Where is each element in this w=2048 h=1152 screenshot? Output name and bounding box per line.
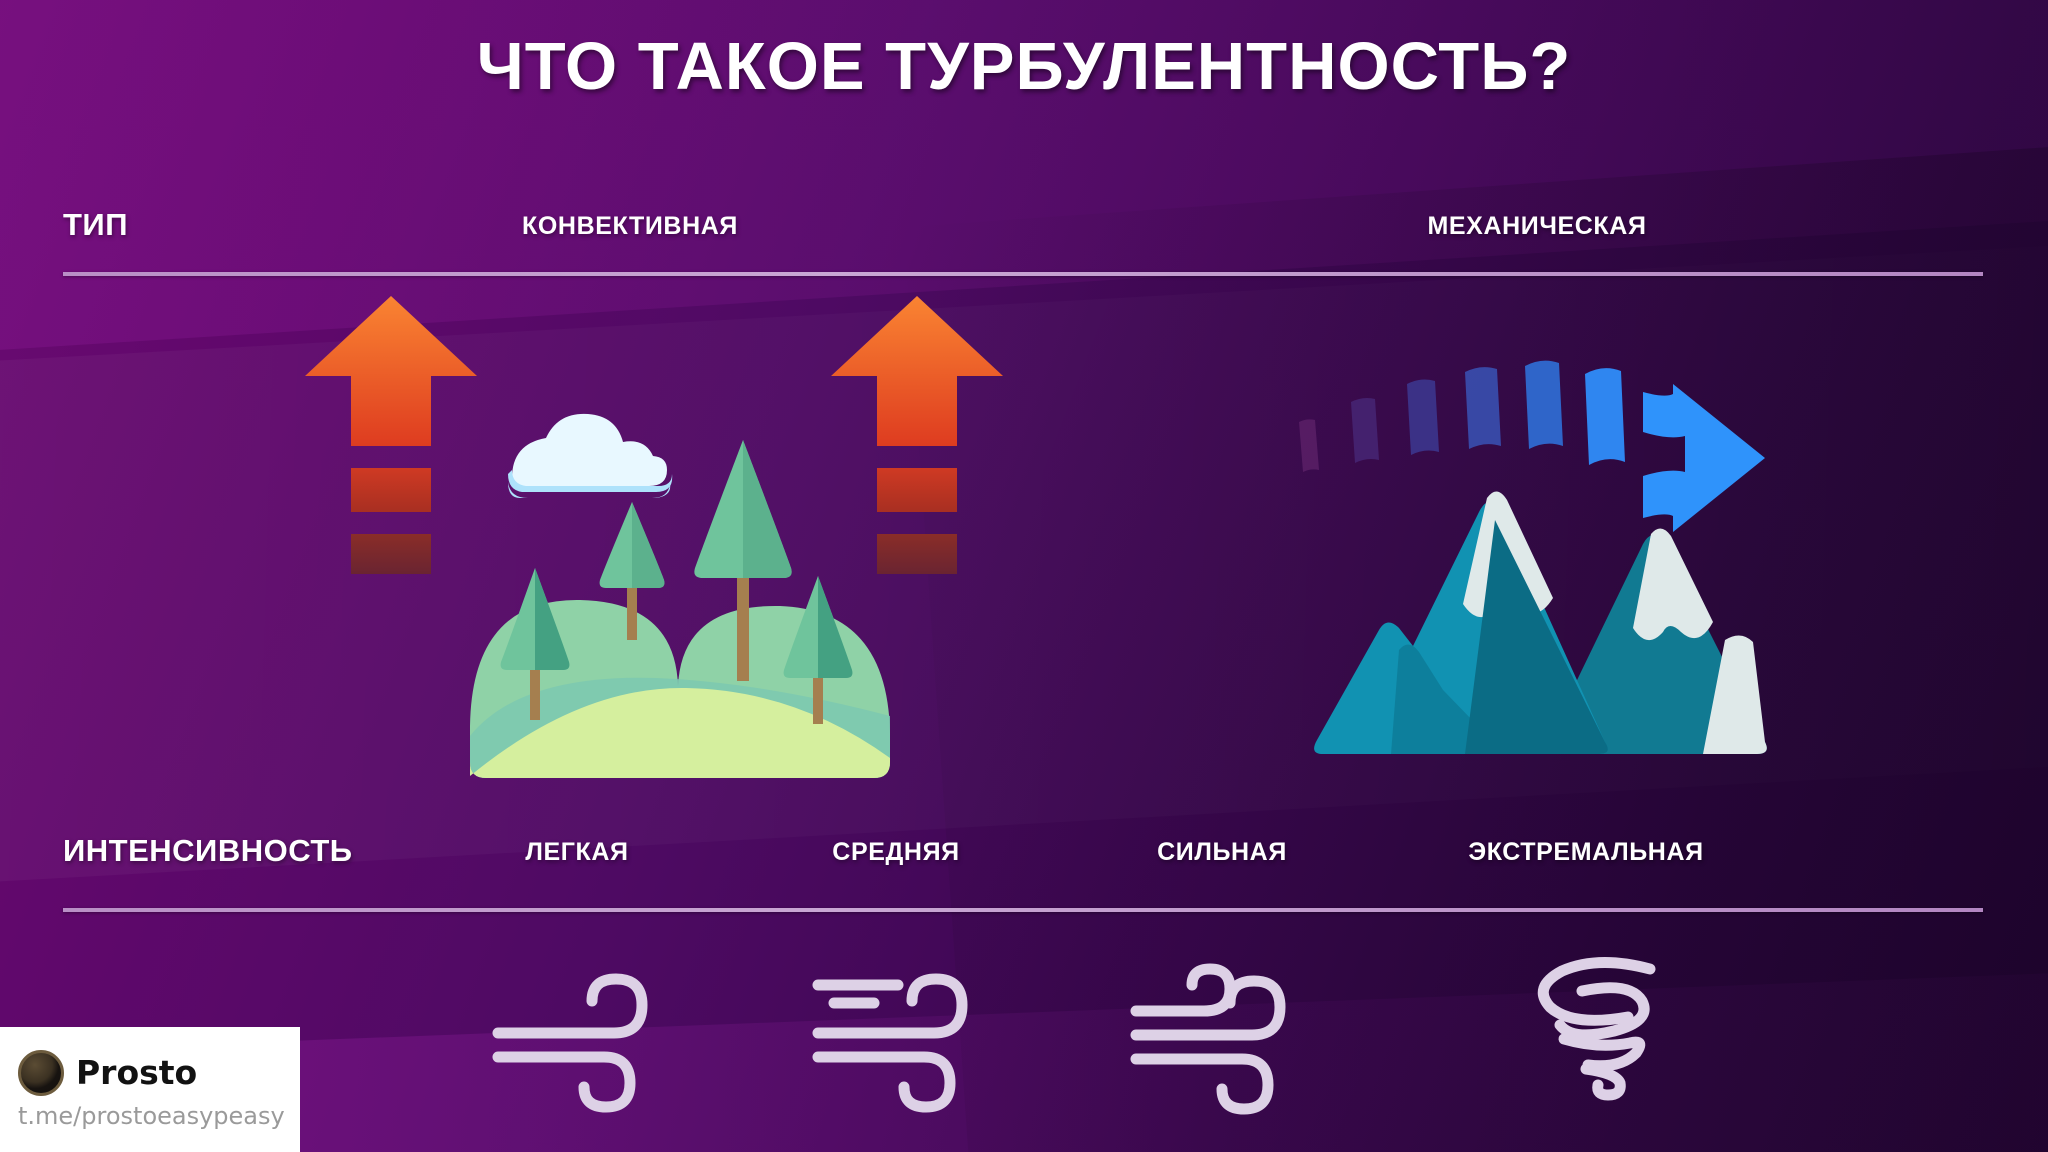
watermark-row: Prosto [18,1050,300,1096]
updraft-arrow-icon-left [305,296,477,586]
intensity-label-strong: СИЛЬНАЯ [1157,838,1287,867]
wind-moderate-icon [812,945,1002,1115]
avatar [18,1050,64,1096]
wind-light-icon [492,945,682,1115]
hills-with-trees-illustration [460,386,900,786]
type-heading-convective: КОНВЕКТИВНАЯ [522,212,738,241]
page-title: ЧТО ТАКОЕ ТУРБУЛЕНТНОСТЬ? [0,28,2048,105]
channel-watermark[interactable]: Prosto t.me/prostoeasypeasy [0,1027,300,1152]
cloud-icon [508,414,672,498]
wind-arrow-segments [1299,361,1625,472]
divider-bottom [63,908,1983,912]
wind-strong-icon [1130,945,1320,1115]
mountains-with-wind-illustration [1295,330,1795,760]
row-label-intensity: ИНТЕНСИВНОСТЬ [63,833,353,869]
mountain-left [1314,491,1608,754]
divider-top [63,272,1983,276]
wind-arrow-head [1643,384,1765,532]
type-heading-mechanical: МЕХАНИЧЕСКАЯ [1427,212,1646,241]
intensity-label-light: ЛЕГКАЯ [525,838,628,867]
channel-name: Prosto [76,1053,197,1092]
channel-url[interactable]: t.me/prostoeasypeasy [18,1102,300,1130]
background-band-bottom [0,956,2048,1152]
intensity-label-extreme: ЭКСТРЕМАЛЬНАЯ [1468,838,1703,867]
infographic-canvas: ЧТО ТАКОЕ ТУРБУЛЕНТНОСТЬ? ТИП КОНВЕКТИВН… [0,0,2048,1152]
intensity-label-moderate: СРЕДНЯЯ [832,838,959,867]
tornado-icon [1520,945,1690,1115]
row-label-type: ТИП [63,207,128,243]
